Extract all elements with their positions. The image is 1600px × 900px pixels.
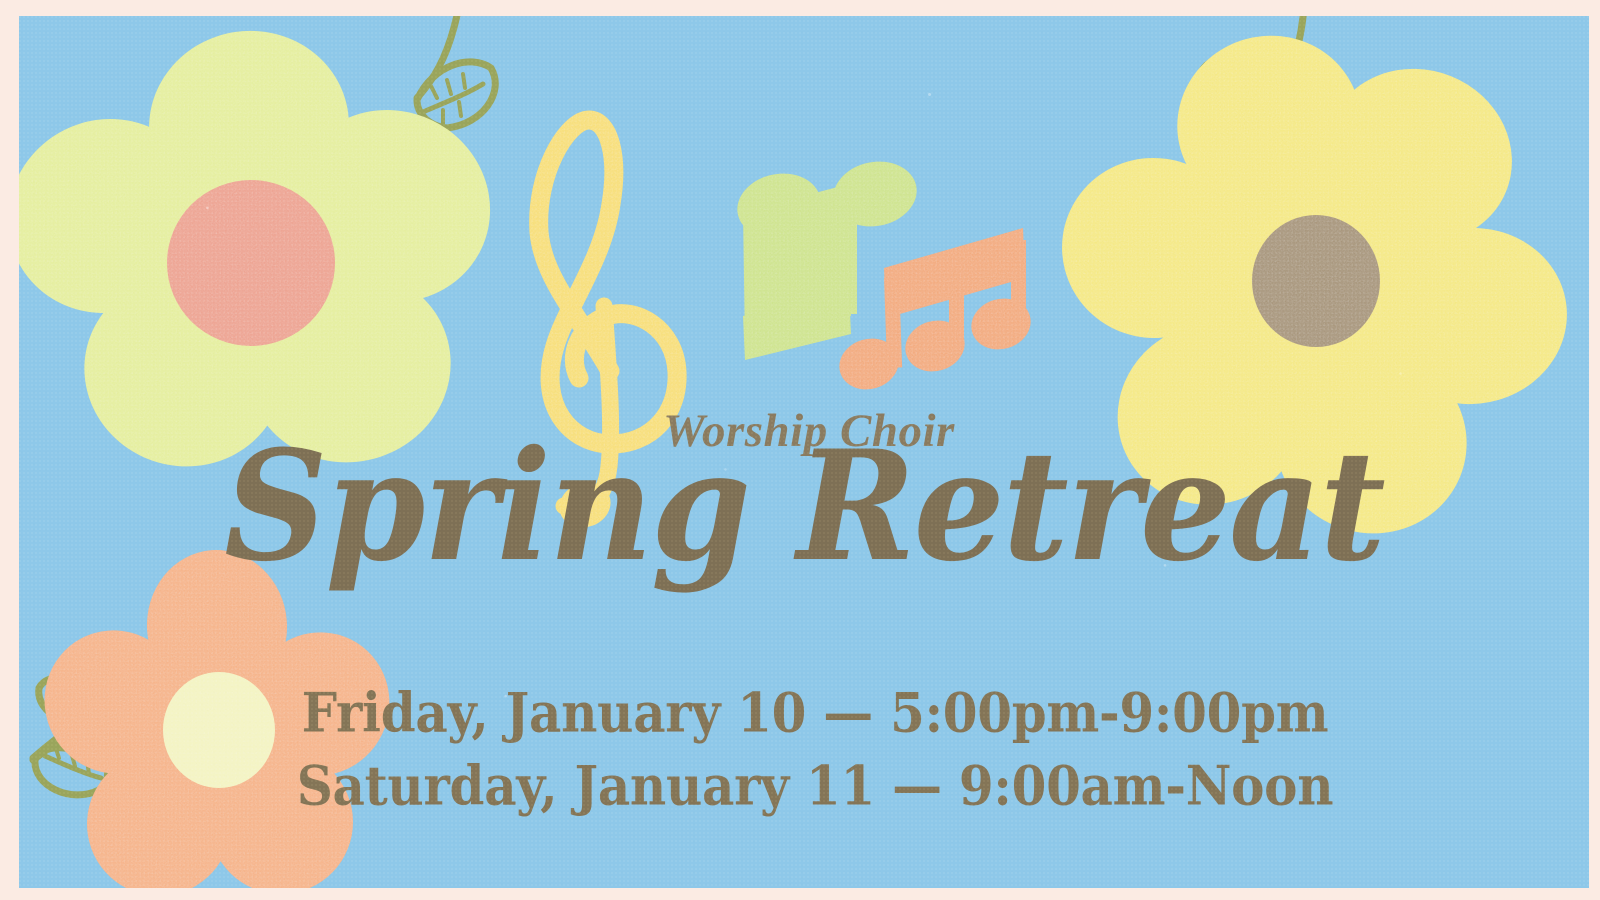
stem-leaf-top-left [417, 16, 495, 128]
title-block: Worship Choir Spring Retreat [19, 408, 1589, 573]
beamed-eighth-note-triple-icon [833, 228, 1036, 396]
flower-green-center [167, 180, 335, 346]
poster-inner-canvas: Worship Choir Spring Retreat Friday, Jan… [19, 16, 1589, 888]
page-title: Spring Retreat [19, 437, 1589, 576]
event-date-line-1: Friday, January 10 — 5:00pm-9:00pm [41, 673, 1589, 752]
event-dates-block: Friday, January 10 — 5:00pm-9:00pm Satur… [19, 676, 1589, 822]
event-date-line-2: Saturday, January 11 — 9:00am-Noon [41, 746, 1589, 825]
poster-canvas: Worship Choir Spring Retreat Friday, Jan… [0, 0, 1600, 900]
flower-yellow-center [1252, 215, 1380, 347]
